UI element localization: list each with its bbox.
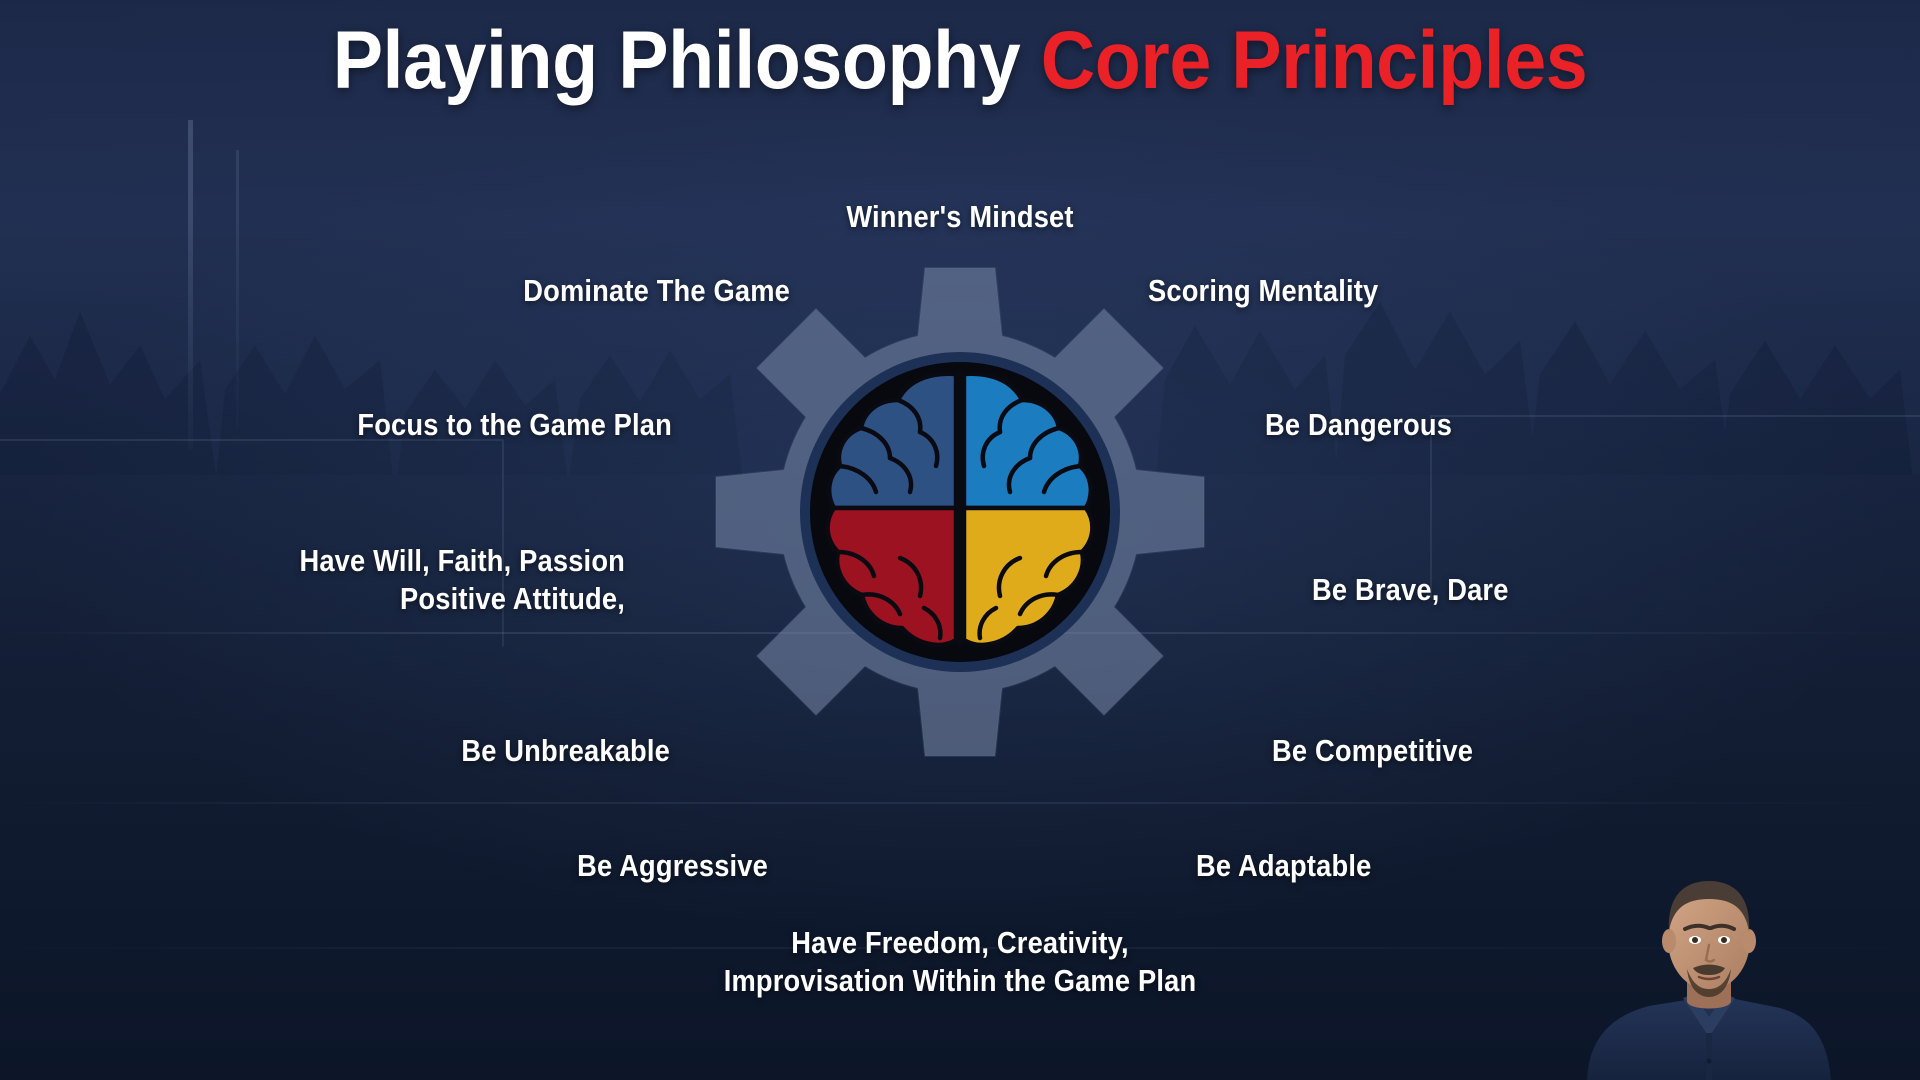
principle-right-3: Be Brave, Dare (1312, 571, 1805, 609)
principle-top: Winner's Mindset (115, 198, 1805, 236)
title-primary: Playing Philosophy (333, 15, 1021, 106)
slide-canvas: Playing Philosophy Core Principles (0, 0, 1920, 1080)
principle-left-4: Be Unbreakable (80, 732, 670, 770)
slide-title: Playing Philosophy Core Principles (77, 14, 1843, 108)
principle-left-5: Be Aggressive (92, 847, 768, 885)
brain-icon (828, 372, 1093, 645)
principle-right-4: Be Competitive (1272, 732, 1765, 770)
coach-portrait (1575, 865, 1920, 1080)
gear-brain-graphic (710, 262, 1210, 762)
principle-right-1: Scoring Mentality (1148, 272, 1641, 310)
title-accent: Core Principles (1041, 15, 1588, 106)
principle-left-1: Dominate The Game (95, 272, 790, 310)
principle-left-3: Have Will, Faith, Passion Positive Attit… (75, 542, 625, 618)
principle-right-2: Be Dangerous (1265, 406, 1758, 444)
principle-left-2: Focus to the Game Plan (81, 406, 672, 444)
principle-bottom: Have Freedom, Creativity, Improvisation … (520, 924, 1400, 1000)
